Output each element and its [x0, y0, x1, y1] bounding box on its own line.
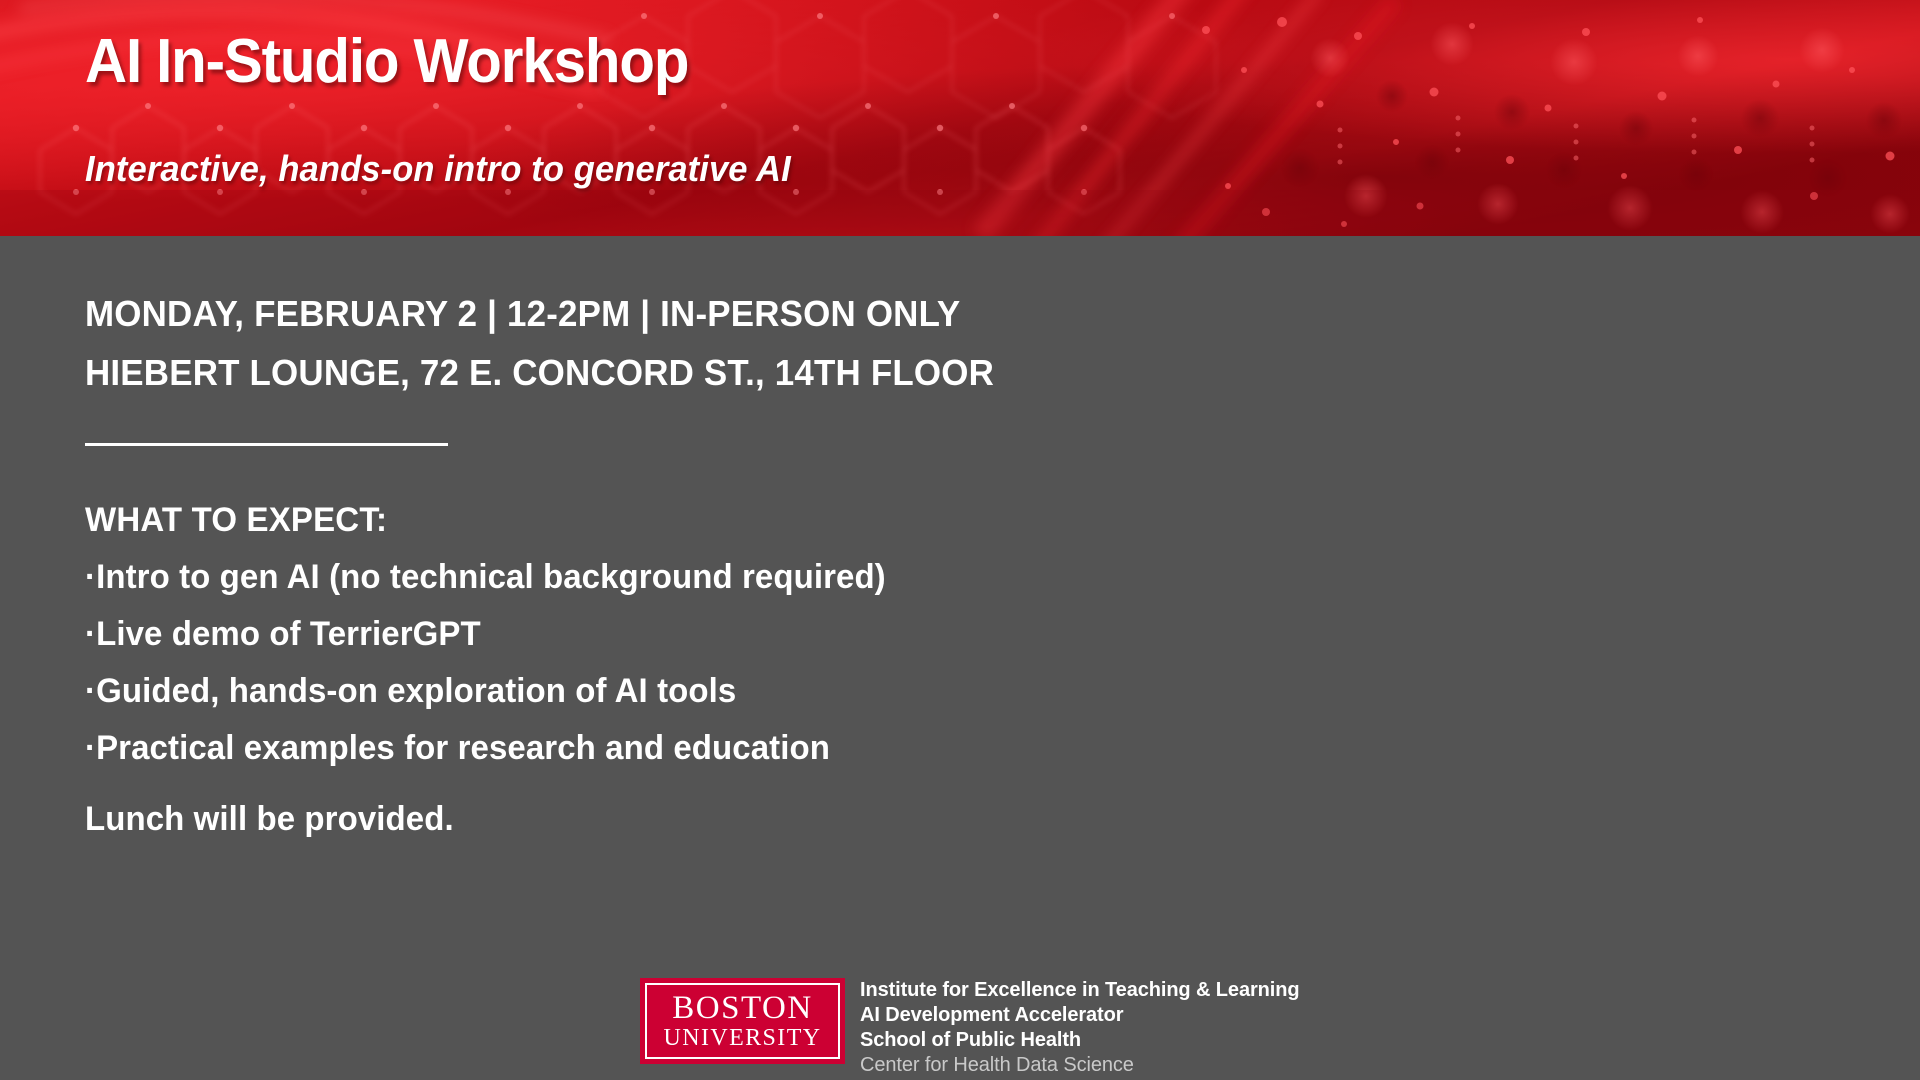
list-item: ·Live demo of TerrierGPT — [85, 606, 1637, 663]
banner-text-group: AI In-Studio Workshop Interactive, hands… — [85, 0, 1585, 236]
what-to-expect-heading: WHAT TO EXPECT: — [85, 492, 1637, 549]
list-item: ·Practical examples for research and edu… — [85, 720, 1637, 777]
event-datetime-line: MONDAY, FEBRUARY 2 | 12-2PM | IN-PERSON … — [85, 284, 1637, 343]
expect-bullet-list: ·Intro to gen AI (no technical backgroun… — [85, 549, 1685, 777]
list-item: ·Guided, hands-on exploration of AI tool… — [85, 663, 1637, 720]
boston-university-logo: BOSTON UNIVERSITY — [640, 978, 845, 1064]
logo-inner-frame: BOSTON UNIVERSITY — [645, 983, 840, 1059]
page-title: AI In-Studio Workshop — [85, 28, 688, 96]
logo-word-boston: BOSTON — [672, 991, 812, 1025]
org-line-accelerator: AI Development Accelerator — [860, 1003, 1299, 1028]
logo-word-university: UNIVERSITY — [664, 1025, 822, 1051]
organization-names: Institute for Excellence in Teaching & L… — [860, 978, 1299, 1078]
org-line-school: School of Public Health — [860, 1028, 1299, 1053]
flyer-poster: AI In-Studio Workshop Interactive, hands… — [0, 0, 1920, 1080]
body-content: MONDAY, FEBRUARY 2 | 12-2PM | IN-PERSON … — [0, 236, 1920, 1080]
event-details: MONDAY, FEBRUARY 2 | 12-2PM | IN-PERSON … — [85, 284, 1685, 402]
section-divider — [85, 443, 448, 446]
org-line-institute: Institute for Excellence in Teaching & L… — [860, 978, 1299, 1003]
footer-logo-lockup: BOSTON UNIVERSITY Institute for Excellen… — [640, 978, 1299, 1078]
org-line-center: Center for Health Data Science — [860, 1053, 1299, 1078]
what-to-expect-section: WHAT TO EXPECT: ·Intro to gen AI (no tec… — [85, 492, 1685, 777]
event-location-line: HIEBERT LOUNGE, 72 E. CONCORD ST., 14TH … — [85, 343, 1637, 402]
lunch-note: Lunch will be provided. — [85, 797, 454, 841]
header-banner: AI In-Studio Workshop Interactive, hands… — [0, 0, 1920, 236]
list-item: ·Intro to gen AI (no technical backgroun… — [85, 549, 1637, 606]
page-subtitle: Interactive, hands-on intro to generativ… — [85, 148, 791, 190]
